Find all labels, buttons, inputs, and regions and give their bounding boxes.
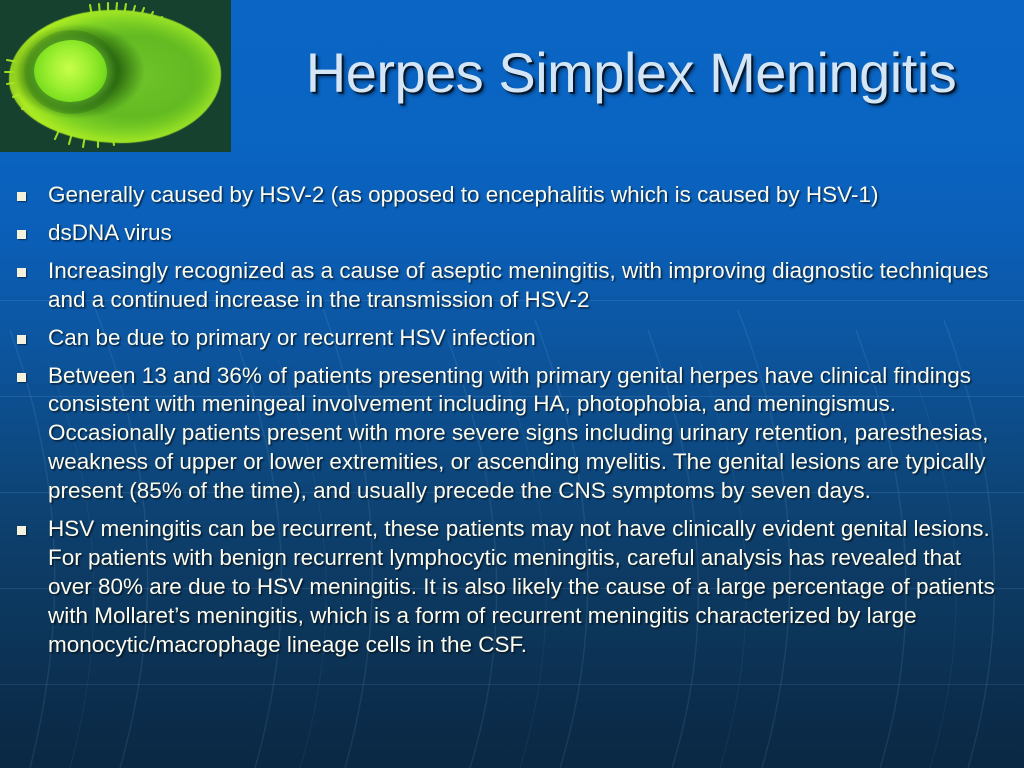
list-item: Increasingly recognized as a cause of as… [0,257,1024,315]
bullet-marker-icon [17,230,26,239]
list-item: Between 13 and 36% of patients presentin… [0,362,1024,507]
list-item: HSV meningitis can be recurrent, these p… [0,515,1024,660]
bullet-text: Can be due to primary or recurrent HSV i… [48,325,536,350]
bullet-text: Increasingly recognized as a cause of as… [48,258,989,312]
list-item: dsDNA virus [0,219,1024,248]
bullet-text: Between 13 and 36% of patients presentin… [48,363,988,504]
bullet-text: dsDNA virus [48,220,172,245]
bullet-text: HSV meningitis can be recurrent, these p… [48,516,995,657]
slide-body: Generally caused by HSV-2 (as opposed to… [0,181,1024,669]
bullet-marker-icon [17,335,26,344]
list-item: Can be due to primary or recurrent HSV i… [0,324,1024,353]
bullet-list: Generally caused by HSV-2 (as opposed to… [0,181,1024,660]
presentation-slide: Herpes Simplex Meningitis Generally caus… [0,0,1024,768]
slide-title: Herpes Simplex Meningitis [246,44,1016,103]
fluorescence-micrograph-image [0,0,231,152]
list-item: Generally caused by HSV-2 (as opposed to… [0,181,1024,210]
bullet-marker-icon [17,192,26,201]
bullet-text: Generally caused by HSV-2 (as opposed to… [48,182,878,207]
bullet-marker-icon [17,268,26,277]
bullet-marker-icon [17,526,26,535]
cell-rim [9,10,221,143]
bullet-marker-icon [17,373,26,382]
